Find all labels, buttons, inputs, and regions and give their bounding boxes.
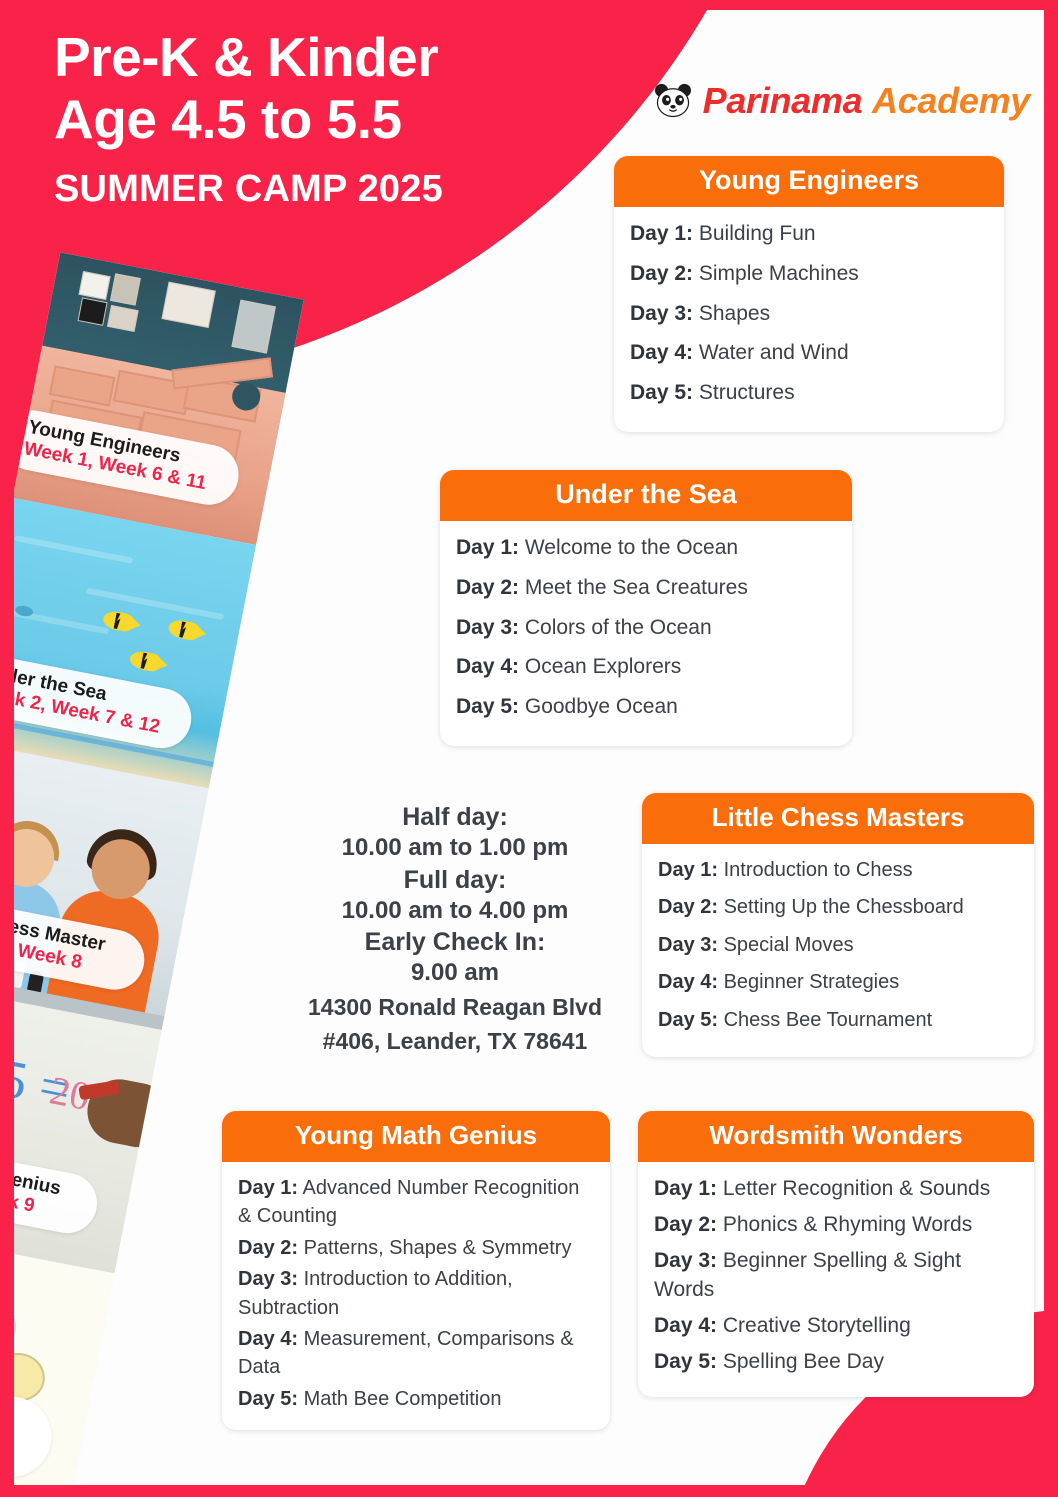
course-card-title: Under the Sea: [440, 470, 852, 521]
course-card-title: Little Chess Masters: [642, 793, 1034, 844]
course-day-row: Day 4: Beginner Strategies: [658, 968, 1018, 996]
course-card-under-the-sea: Under the Sea Day 1: Welcome to the Ocea…: [440, 470, 852, 746]
panda-icon: [653, 83, 693, 119]
course-card-days: Day 1: Building Fun Day 2: Simple Machin…: [614, 207, 1004, 432]
course-day-row: Day 4: Water and Wind: [630, 338, 988, 368]
course-card-days: Day 1: Welcome to the Ocean Day 2: Meet …: [440, 521, 852, 746]
poster-inner: Pre-K & Kinder Age 4.5 to 5.5 SUMMER CAM…: [10, 8, 1048, 1489]
day-label: Day 5:: [658, 1009, 718, 1031]
day-label: Day 2:: [654, 1213, 717, 1236]
day-label: Day 1:: [630, 222, 693, 245]
course-day-row: Day 3: Colors of the Ocean: [456, 613, 836, 643]
frame-border-top: [0, 0, 1058, 10]
course-day-row: Day 3: Introduction to Addition, Subtrac…: [238, 1265, 594, 1322]
course-day-row: Day 2: Patterns, Shapes & Symmetry: [238, 1234, 594, 1262]
course-day-row: Day 2: Meet the Sea Creatures: [456, 573, 836, 603]
course-day-row: Day 5: Goodbye Ocean: [456, 692, 836, 722]
course-card-title: Young Math Genius: [222, 1111, 610, 1162]
full-day-time: 10.00 am to 4.00 pm: [288, 896, 622, 927]
underwater-fish-illustration: [10, 498, 256, 789]
day-text: Spelling Bee Day: [717, 1350, 884, 1373]
course-day-row: Day 5: Chess Bee Tournament: [658, 1006, 1018, 1034]
course-card-young-engineers: Young Engineers Day 1: Building Fun Day …: [614, 156, 1004, 432]
schedule-block: Half day: 10.00 am to 1.00 pm Full day: …: [288, 801, 622, 1057]
address-line-2: #406, Leander, TX 78641: [288, 1027, 622, 1057]
day-text: Setting Up the Chessboard: [718, 896, 964, 918]
full-day-label: Full day:: [288, 864, 622, 896]
whiteboard-math-photo: 4 × 5 = 20: [10, 983, 162, 1274]
day-label: Day 3:: [658, 934, 718, 956]
day-text: Water and Wind: [693, 341, 849, 364]
day-text: Chess Bee Tournament: [718, 1009, 932, 1031]
address-line-1: 14300 Ronald Reagan Blvd: [288, 993, 622, 1023]
day-label: Day 5:: [654, 1350, 717, 1373]
day-text: Simple Machines: [693, 262, 859, 285]
poster-root: Pre-K & Kinder Age 4.5 to 5.5 SUMMER CAM…: [0, 0, 1058, 1497]
day-text: Creative Storytelling: [717, 1314, 911, 1337]
day-label: Day 1:: [654, 1177, 717, 1200]
day-text: Letter Recognition & Sounds: [717, 1177, 990, 1200]
course-day-row: Day 3: Shapes: [630, 299, 988, 329]
course-card-title: Wordsmith Wonders: [638, 1111, 1034, 1162]
photo-card-little-chess-master: Little Chess Master Week 3 & Week 8: [10, 741, 209, 1030]
day-text: Special Moves: [718, 934, 854, 956]
brand-name-part1: Parinama: [703, 80, 863, 121]
day-label: Day 1:: [658, 859, 718, 881]
course-day-row: Day 5: Structures: [630, 378, 988, 408]
day-text: Math Bee Competition: [298, 1388, 501, 1410]
day-text: Structures: [693, 381, 795, 404]
day-label: Day 4:: [238, 1328, 298, 1350]
frame-border-left: [0, 0, 14, 1497]
day-text: Goodbye Ocean: [519, 695, 678, 718]
early-checkin-time: 9.00 am: [288, 958, 622, 989]
course-card-young-math-genius: Young Math Genius Day 1: Advanced Number…: [222, 1111, 610, 1430]
poster-subheadline: SUMMER CAMP 2025: [54, 168, 443, 211]
frame-border-right: [1044, 0, 1058, 1497]
course-card-days: Day 1: Letter Recognition & Sounds Day 2…: [638, 1162, 1034, 1397]
day-label: Day 4:: [654, 1314, 717, 1337]
day-label: Day 4:: [630, 341, 693, 364]
day-text: Ocean Explorers: [519, 655, 681, 678]
course-day-row: Day 1: Welcome to the Ocean: [456, 533, 836, 563]
course-day-row: Day 2: Setting Up the Chessboard: [658, 893, 1018, 921]
day-label: Day 3:: [654, 1249, 717, 1272]
day-text: Building Fun: [693, 222, 816, 245]
course-card-days: Day 1: Introduction to Chess Day 2: Sett…: [642, 844, 1034, 1057]
day-label: Day 5:: [630, 381, 693, 404]
day-label: Day 3:: [456, 616, 519, 639]
half-day-label: Half day:: [288, 801, 622, 833]
day-label: Day 2:: [658, 896, 718, 918]
poster-headline: Pre-K & Kinder Age 4.5 to 5.5 SUMMER CAM…: [54, 26, 443, 211]
day-text: Phonics & Rhyming Words: [717, 1213, 972, 1236]
course-day-row: Day 1: Advanced Number Recognition & Cou…: [238, 1174, 594, 1231]
day-text: Welcome to the Ocean: [519, 536, 738, 559]
half-day-time: 10.00 am to 1.00 pm: [288, 833, 622, 864]
photo-card-young-engineers: Young Engineers Week 1, Week 6 & 11: [13, 252, 304, 545]
day-text: Patterns, Shapes & Symmetry: [298, 1237, 571, 1259]
day-label: Day 1:: [456, 536, 519, 559]
course-day-row: Day 1: Introduction to Chess: [658, 856, 1018, 884]
day-text: Colors of the Ocean: [519, 616, 712, 639]
day-label: Day 3:: [630, 302, 693, 325]
day-label: Day 2:: [630, 262, 693, 285]
photo-card-young-math-genius: 4 × 5 = 20 Young Math Genius Week 4 & We…: [10, 983, 162, 1274]
course-card-wordsmith-wonders: Wordsmith Wonders Day 1: Letter Recognit…: [638, 1111, 1034, 1397]
course-day-row: Day 4: Creative Storytelling: [654, 1311, 1018, 1341]
day-label: Day 2:: [238, 1237, 298, 1259]
course-day-row: Day 5: Math Bee Competition: [238, 1385, 594, 1413]
brand-name-part2: Academy: [872, 80, 1030, 121]
course-day-row: Day 3: Beginner Spelling & Sight Words: [654, 1246, 1018, 1306]
day-text: Shapes: [693, 302, 770, 325]
course-day-row: Day 3: Special Moves: [658, 931, 1018, 959]
brand-name: Parinama Academy: [703, 80, 1030, 122]
course-day-row: Day 4: Ocean Explorers: [456, 652, 836, 682]
day-text: Beginner Strategies: [718, 971, 899, 993]
frame-border-bottom: [0, 1485, 1058, 1497]
course-day-row: Day 4: Measurement, Comparisons & Data: [238, 1325, 594, 1382]
day-text: Introduction to Chess: [718, 859, 913, 881]
headline-line-2: Age 4.5 to 5.5: [54, 88, 443, 150]
brand-logo: Parinama Academy: [653, 80, 1030, 122]
course-day-row: Day 1: Letter Recognition & Sounds: [654, 1174, 1018, 1204]
course-day-row: Day 1: Building Fun: [630, 219, 988, 249]
course-card-title: Young Engineers: [614, 156, 1004, 207]
course-day-row: Day 5: Spelling Bee Day: [654, 1347, 1018, 1377]
headline-line-1: Pre-K & Kinder: [54, 26, 443, 88]
day-label: Day 3:: [238, 1268, 298, 1290]
day-label: Day 2:: [456, 576, 519, 599]
course-card-little-chess-masters: Little Chess Masters Day 1: Introduction…: [642, 793, 1034, 1057]
day-label: Day 5:: [456, 695, 519, 718]
wooden-block-castle-photo: [13, 252, 304, 545]
day-label: Day 1:: [238, 1177, 298, 1199]
course-day-row: Day 2: Phonics & Rhyming Words: [654, 1210, 1018, 1240]
day-label: Day 5:: [238, 1388, 298, 1410]
course-day-row: Day 2: Simple Machines: [630, 259, 988, 289]
course-card-days: Day 1: Advanced Number Recognition & Cou…: [222, 1162, 610, 1430]
early-checkin-label: Early Check In:: [288, 926, 622, 958]
day-text: Meet the Sea Creatures: [519, 576, 748, 599]
day-label: Day 4:: [456, 655, 519, 678]
day-label: Day 4:: [658, 971, 718, 993]
photo-card-under-the-sea: Under the Sea Week 2, Week 7 & 12: [10, 498, 256, 789]
